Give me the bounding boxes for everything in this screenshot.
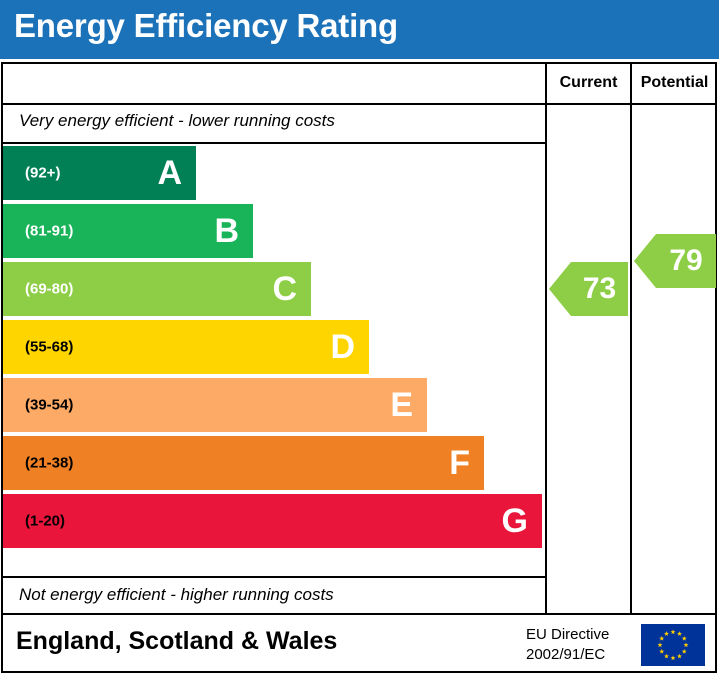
rating-range-d: (55-68) <box>25 339 73 356</box>
column-header-current: Current <box>547 74 630 92</box>
chart-body: Current Potential Very energy efficient … <box>1 62 717 615</box>
epc-certificate: Energy Efficiency Rating Current Potenti… <box>0 0 719 675</box>
current-rating-marker: 73 <box>549 262 628 316</box>
header-row-divider <box>3 103 715 105</box>
rating-letter-a: A <box>157 156 182 190</box>
rating-bar-c: (69-80) C <box>3 262 311 316</box>
rating-letter-f: F <box>449 446 470 480</box>
current-rating-value: 73 <box>571 274 628 304</box>
rating-range-c: (69-80) <box>25 281 73 298</box>
rating-letter-b: B <box>214 214 239 248</box>
page-title: Energy Efficiency Rating <box>14 7 398 45</box>
chart-header: Energy Efficiency Rating <box>0 0 719 59</box>
rating-letter-c: C <box>272 272 297 306</box>
bottom-band-divider <box>3 576 545 578</box>
rating-range-g: (1-20) <box>25 513 65 530</box>
rating-bars: (92+) A (81-91) B (69-80) C (55-68) D (3… <box>3 146 545 575</box>
region-label: England, Scotland & Wales <box>16 627 337 656</box>
efficiency-note-top: Very energy efficient - lower running co… <box>19 111 335 131</box>
rating-bar-e: (39-54) E <box>3 378 427 432</box>
eu-directive-label: EU Directive 2002/91/EC <box>526 625 609 664</box>
rating-letter-e: E <box>390 388 413 422</box>
chart-footer: England, Scotland & Wales EU Directive 2… <box>1 615 717 673</box>
rating-bar-d: (55-68) D <box>3 320 369 374</box>
top-band-divider <box>3 142 545 144</box>
rating-bar-f: (21-38) F <box>3 436 484 490</box>
rating-range-b: (81-91) <box>25 223 73 240</box>
rating-bar-a: (92+) A <box>3 146 196 200</box>
rating-bar-g: (1-20) G <box>3 494 542 548</box>
column-divider-current <box>545 64 547 613</box>
eu-directive-line1: EU Directive <box>526 625 609 645</box>
rating-bar-b: (81-91) B <box>3 204 253 258</box>
rating-range-a: (92+) <box>25 165 60 182</box>
eu-directive-line2: 2002/91/EC <box>526 645 609 665</box>
rating-letter-d: D <box>330 330 355 364</box>
eu-flag-icon <box>641 624 705 666</box>
column-header-potential: Potential <box>632 74 717 92</box>
rating-range-e: (39-54) <box>25 397 73 414</box>
rating-range-f: (21-38) <box>25 455 73 472</box>
rating-letter-g: G <box>502 504 528 538</box>
potential-rating-marker: 79 <box>634 234 716 288</box>
column-divider-potential <box>630 64 632 613</box>
potential-rating-value: 79 <box>656 246 716 276</box>
efficiency-note-bottom: Not energy efficient - higher running co… <box>19 585 334 605</box>
